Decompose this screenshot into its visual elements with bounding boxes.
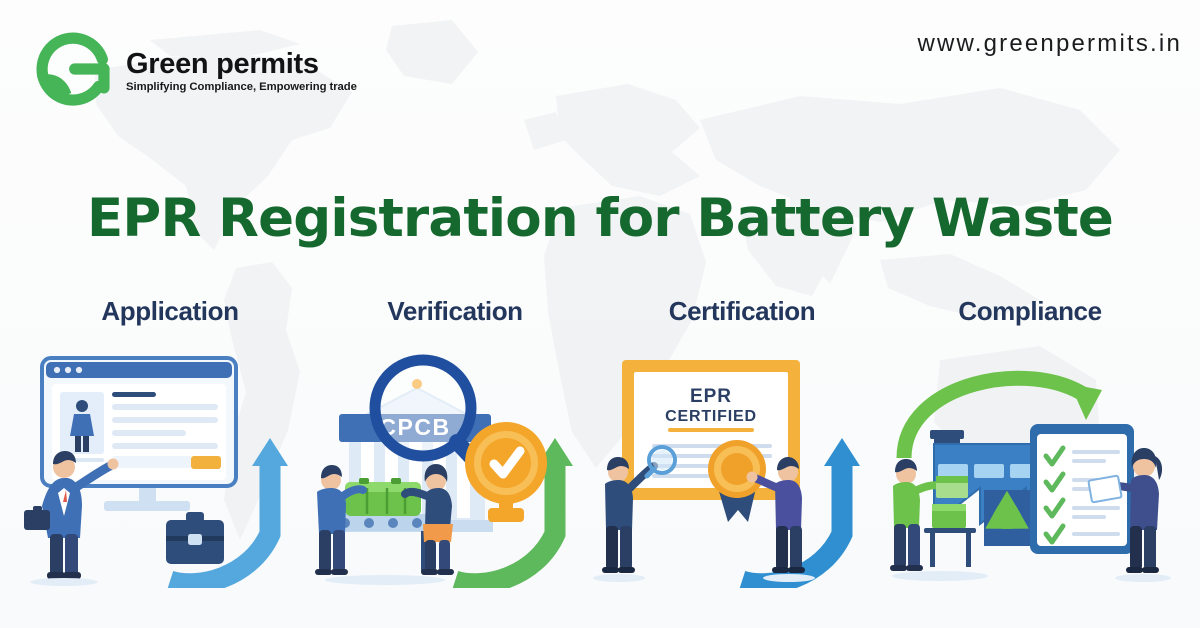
brand-name: Green permits <box>126 49 357 79</box>
brand-text-block: Green permits Simplifying Compliance, Em… <box>126 45 357 93</box>
svg-text:EPR: EPR <box>690 386 732 407</box>
step-verification[interactable]: Verification <box>305 296 605 596</box>
website-url[interactable]: www.greenpermits.in <box>917 30 1182 58</box>
banner-canvas: Green permits Simplifying Compliance, Em… <box>0 0 1200 628</box>
step-label-application: Application <box>20 296 320 327</box>
step-application[interactable]: Application <box>20 296 320 596</box>
application-illustration <box>20 338 320 588</box>
briefcase-icon <box>166 512 224 564</box>
verification-illustration: CPCB <box>305 338 605 588</box>
step-label-compliance: Compliance <box>880 296 1180 327</box>
step-label-verification: Verification <box>305 296 605 327</box>
compliance-illustration <box>880 338 1180 588</box>
certification-illustration: EPR CERTIFIED <box>592 338 892 588</box>
svg-text:CERTIFIED: CERTIFIED <box>665 408 757 425</box>
step-compliance[interactable]: Compliance <box>880 296 1180 596</box>
brand-tagline: Simplifying Compliance, Empowering trade <box>126 81 357 93</box>
green-g-leaf-logo-icon <box>30 26 116 112</box>
green-battery-stack <box>345 478 421 516</box>
step-certification[interactable]: Certification EPR CERTIFIED <box>592 296 892 596</box>
page-title: EPR Registration for Battery Waste <box>0 188 1200 249</box>
submit-button-graphic <box>191 456 221 469</box>
step-label-certification: Certification <box>592 296 892 327</box>
brand-logo[interactable]: Green permits Simplifying Compliance, Em… <box>30 26 357 112</box>
businessman-figure <box>24 451 119 579</box>
process-steps: Application <box>0 296 1200 596</box>
